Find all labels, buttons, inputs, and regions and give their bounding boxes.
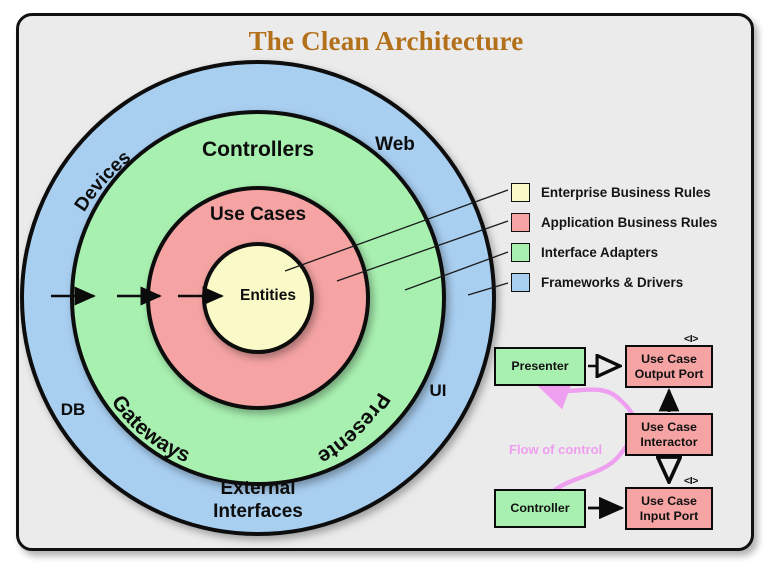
legend: Enterprise Business Rules Application Bu…: [511, 178, 761, 298]
flow-box-presenter: Presenter: [494, 347, 586, 386]
flow-box-presenter-label: Presenter: [511, 359, 568, 374]
ring-label-entities: Entities: [208, 287, 328, 305]
flow-box-output-port-line1: Use Case: [641, 352, 697, 367]
legend-item-frameworks-and-drivers: Frameworks & Drivers: [511, 268, 761, 296]
legend-swatch-application-business-rules: [511, 213, 530, 232]
legend-item-application-business-rules: Application Business Rules: [511, 208, 761, 236]
ring-label-controllers: Controllers: [158, 138, 358, 162]
flow-box-interactor-line2: Interactor: [640, 435, 697, 450]
flow-box-use-case-input-port: Use Case Input Port: [625, 487, 713, 530]
legend-swatch-interface-adapters: [511, 243, 530, 262]
ring-label-web: Web: [340, 134, 450, 156]
legend-item-enterprise-business-rules: Enterprise Business Rules: [511, 178, 761, 206]
legend-label-enterprise-business-rules: Enterprise Business Rules: [541, 185, 711, 200]
ring-label-external-interfaces-line2: Interfaces: [178, 501, 338, 523]
flow-of-control-label: Flow of control: [509, 442, 602, 457]
flow-box-output-port-line2: Output Port: [635, 367, 704, 382]
legend-swatch-frameworks-and-drivers: [511, 273, 530, 292]
legend-item-interface-adapters: Interface Adapters: [511, 238, 761, 266]
flow-box-input-port-line2: Input Port: [640, 509, 699, 524]
flow-box-input-port-line1: Use Case: [641, 494, 697, 509]
clean-architecture-diagram: The Clean Architecture: [0, 0, 772, 567]
interface-marker-output-port: <I>: [684, 333, 698, 345]
ring-label-ui: UI: [403, 381, 473, 401]
flow-box-use-case-output-port: Use Case Output Port: [625, 345, 713, 388]
flow-box-controller-label: Controller: [510, 501, 569, 516]
legend-label-application-business-rules: Application Business Rules: [541, 215, 717, 230]
flow-box-interactor-line1: Use Case: [641, 420, 697, 435]
ring-label-external-interfaces-line1: External: [178, 478, 338, 500]
interface-marker-input-port: <I>: [684, 475, 698, 487]
legend-swatch-enterprise-business-rules: [511, 183, 530, 202]
legend-label-frameworks-and-drivers: Frameworks & Drivers: [541, 275, 683, 290]
ring-label-use-cases: Use Cases: [178, 204, 338, 226]
ring-label-db: DB: [38, 400, 108, 420]
flow-box-controller: Controller: [494, 489, 586, 528]
flow-box-use-case-interactor: Use Case Interactor: [625, 413, 713, 456]
legend-label-interface-adapters: Interface Adapters: [541, 245, 658, 260]
